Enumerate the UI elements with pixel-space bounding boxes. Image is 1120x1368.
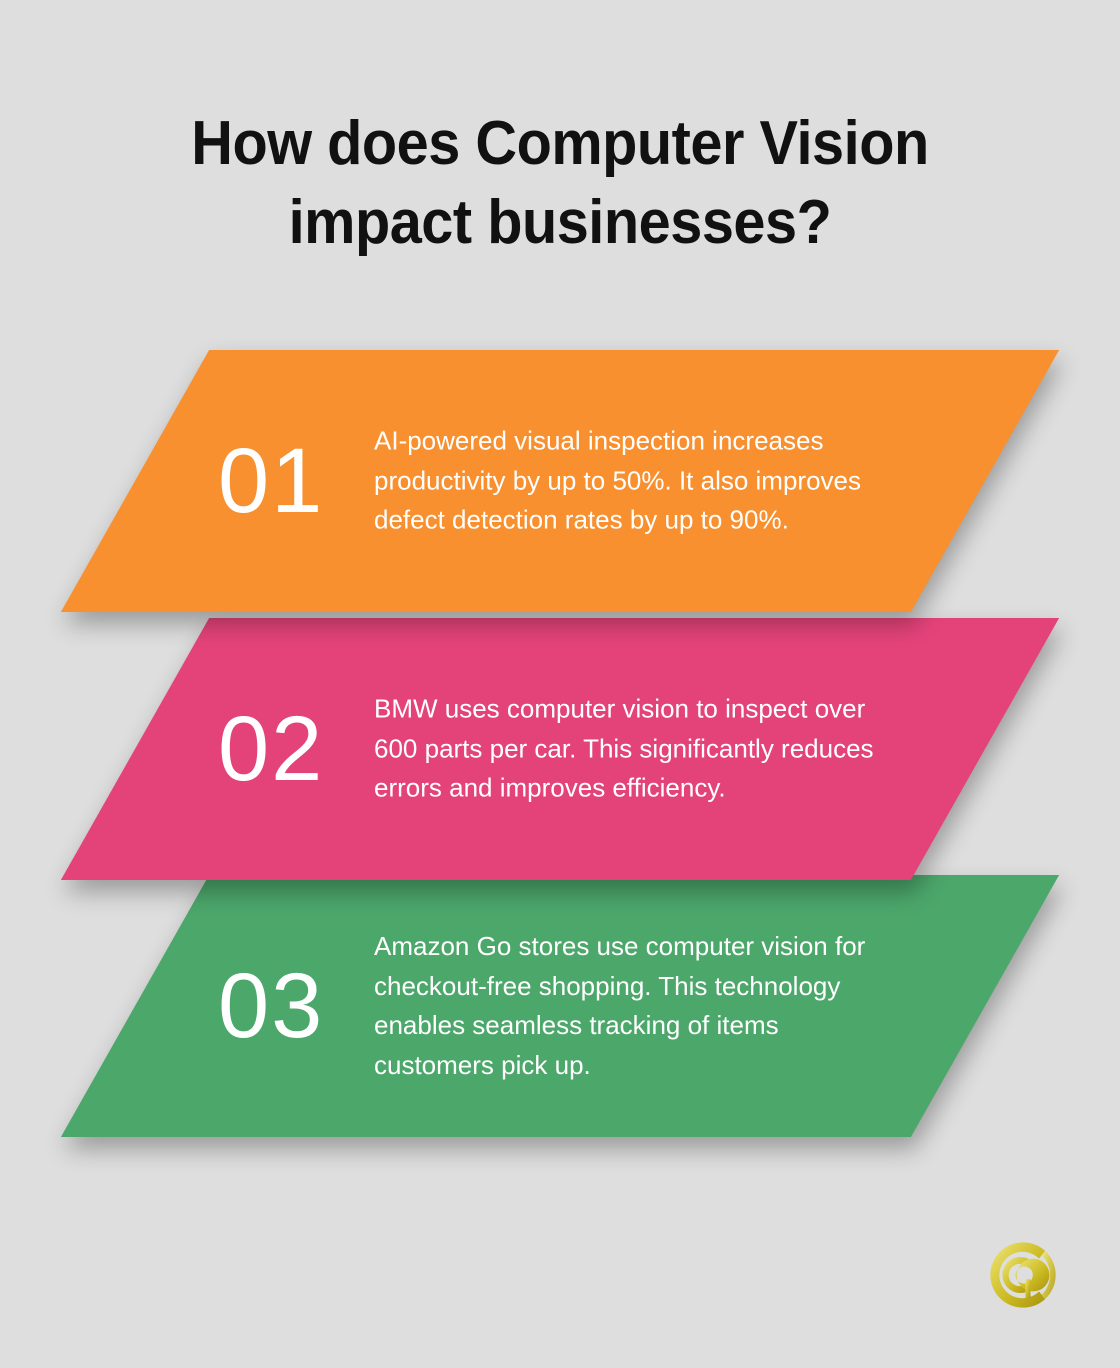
banner-item[interactable]: 01 AI-powered visual inspection increase… (0, 350, 1120, 612)
banner-text: Amazon Go stores use computer vision for… (374, 927, 904, 1085)
banner-item[interactable]: 03 Amazon Go stores use computer vision … (0, 875, 1120, 1137)
page-title-block: How does Computer Vision impact business… (0, 104, 1120, 263)
banner-item[interactable]: 02 BMW uses computer vision to inspect o… (0, 618, 1120, 880)
banner-content: 03 Amazon Go stores use computer vision … (0, 875, 1120, 1137)
page-title-line-1: How does Computer Vision (191, 109, 928, 178)
banner-number: 02 (218, 703, 324, 795)
banner-stack: 01 AI-powered visual inspection increase… (0, 350, 1120, 1140)
banner-content: 01 AI-powered visual inspection increase… (0, 350, 1120, 612)
banner-text: BMW uses computer vision to inspect over… (374, 690, 904, 809)
page-title-line-2: impact businesses? (289, 188, 832, 257)
banner-content: 02 BMW uses computer vision to inspect o… (0, 618, 1120, 880)
page-title: How does Computer Vision impact business… (39, 104, 1081, 263)
banner-text: AI-powered visual inspection increases p… (374, 422, 904, 541)
banner-number: 01 (218, 435, 324, 527)
cq-monogram-logo-icon (978, 1232, 1064, 1318)
banner-number: 03 (218, 960, 324, 1052)
